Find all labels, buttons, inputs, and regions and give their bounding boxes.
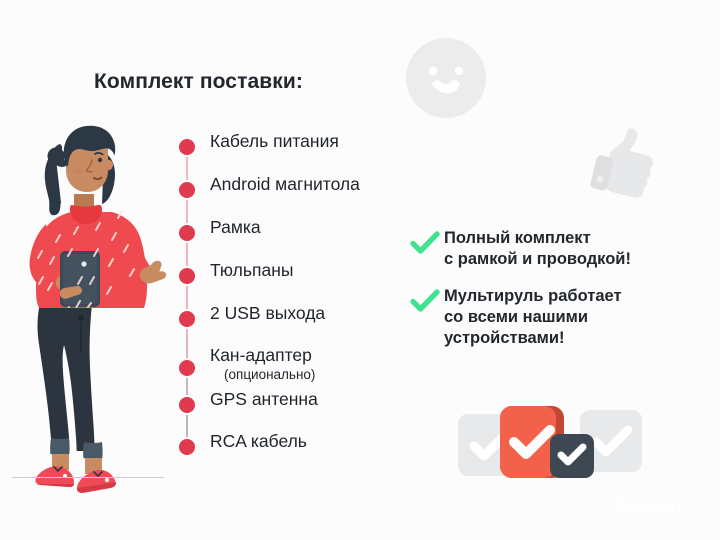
list-item-label: RCA кабель: [210, 431, 307, 451]
bullet-dot: [179, 139, 195, 155]
promo-image-canvas: Комплект поставки: Кабель питания Androi…: [0, 0, 720, 540]
avito-logo-icon: [610, 496, 631, 522]
bullet-dot: [179, 360, 195, 376]
list-item-sublabel: (опционально): [224, 367, 315, 382]
benefit-item: Мультируль работает со всеми нашими устр…: [410, 286, 710, 349]
check-cards-icon: [458, 398, 642, 490]
list-item: Кан-адаптер (опционально): [176, 346, 406, 390]
list-item: Тюльпаны: [176, 261, 406, 304]
bullet-dot: [179, 182, 195, 198]
woman-pointing-illustration: [8, 108, 178, 508]
avito-watermark-text: Avito: [633, 497, 682, 521]
avito-watermark: Avito: [610, 496, 682, 522]
list-item-label: Рамка: [210, 217, 261, 237]
list-item-label: Android магнитола: [210, 174, 360, 194]
green-check-icon: [410, 230, 440, 256]
bullet-dot: [179, 225, 195, 241]
green-check-icon: [410, 288, 440, 314]
benefits-list: Полный комплект с рамкой и проводкой! Му…: [410, 228, 710, 350]
smiley-face-icon: [404, 36, 488, 120]
list-item: 2 USB выхода: [176, 304, 406, 346]
list-item-label: GPS антенна: [210, 389, 318, 409]
benefit-line: со всеми нашими: [444, 308, 588, 326]
list-item-label: Тюльпаны: [210, 260, 293, 280]
bullet-dot: [179, 311, 195, 327]
bullet-dot: [179, 397, 195, 413]
list-item-label: Кан-адаптер: [210, 345, 312, 365]
list-item: Android магнитола: [176, 175, 406, 218]
list-item-label: 2 USB выхода: [210, 303, 325, 323]
bullet-dot: [179, 439, 195, 455]
page-title: Комплект поставки:: [94, 70, 303, 94]
kit-contents-list: Кабель питания Android магнитола Рамка Т…: [176, 132, 406, 474]
benefit-line: Мультируль работает: [444, 287, 622, 305]
benefit-line: Полный комплект: [444, 229, 591, 247]
benefit-line: устройствами!: [444, 329, 565, 347]
bullet-dot: [179, 268, 195, 284]
list-item: GPS антенна: [176, 390, 406, 432]
benefit-line: с рамкой и проводкой!: [444, 250, 631, 268]
benefit-item: Полный комплект с рамкой и проводкой!: [410, 228, 710, 270]
thumbs-up-icon: [574, 116, 670, 212]
ground-line: [12, 477, 164, 478]
list-item: RCA кабель: [176, 432, 406, 474]
list-item: Кабель питания: [176, 132, 406, 175]
list-item-label: Кабель питания: [210, 131, 339, 151]
list-item: Рамка: [176, 218, 406, 261]
